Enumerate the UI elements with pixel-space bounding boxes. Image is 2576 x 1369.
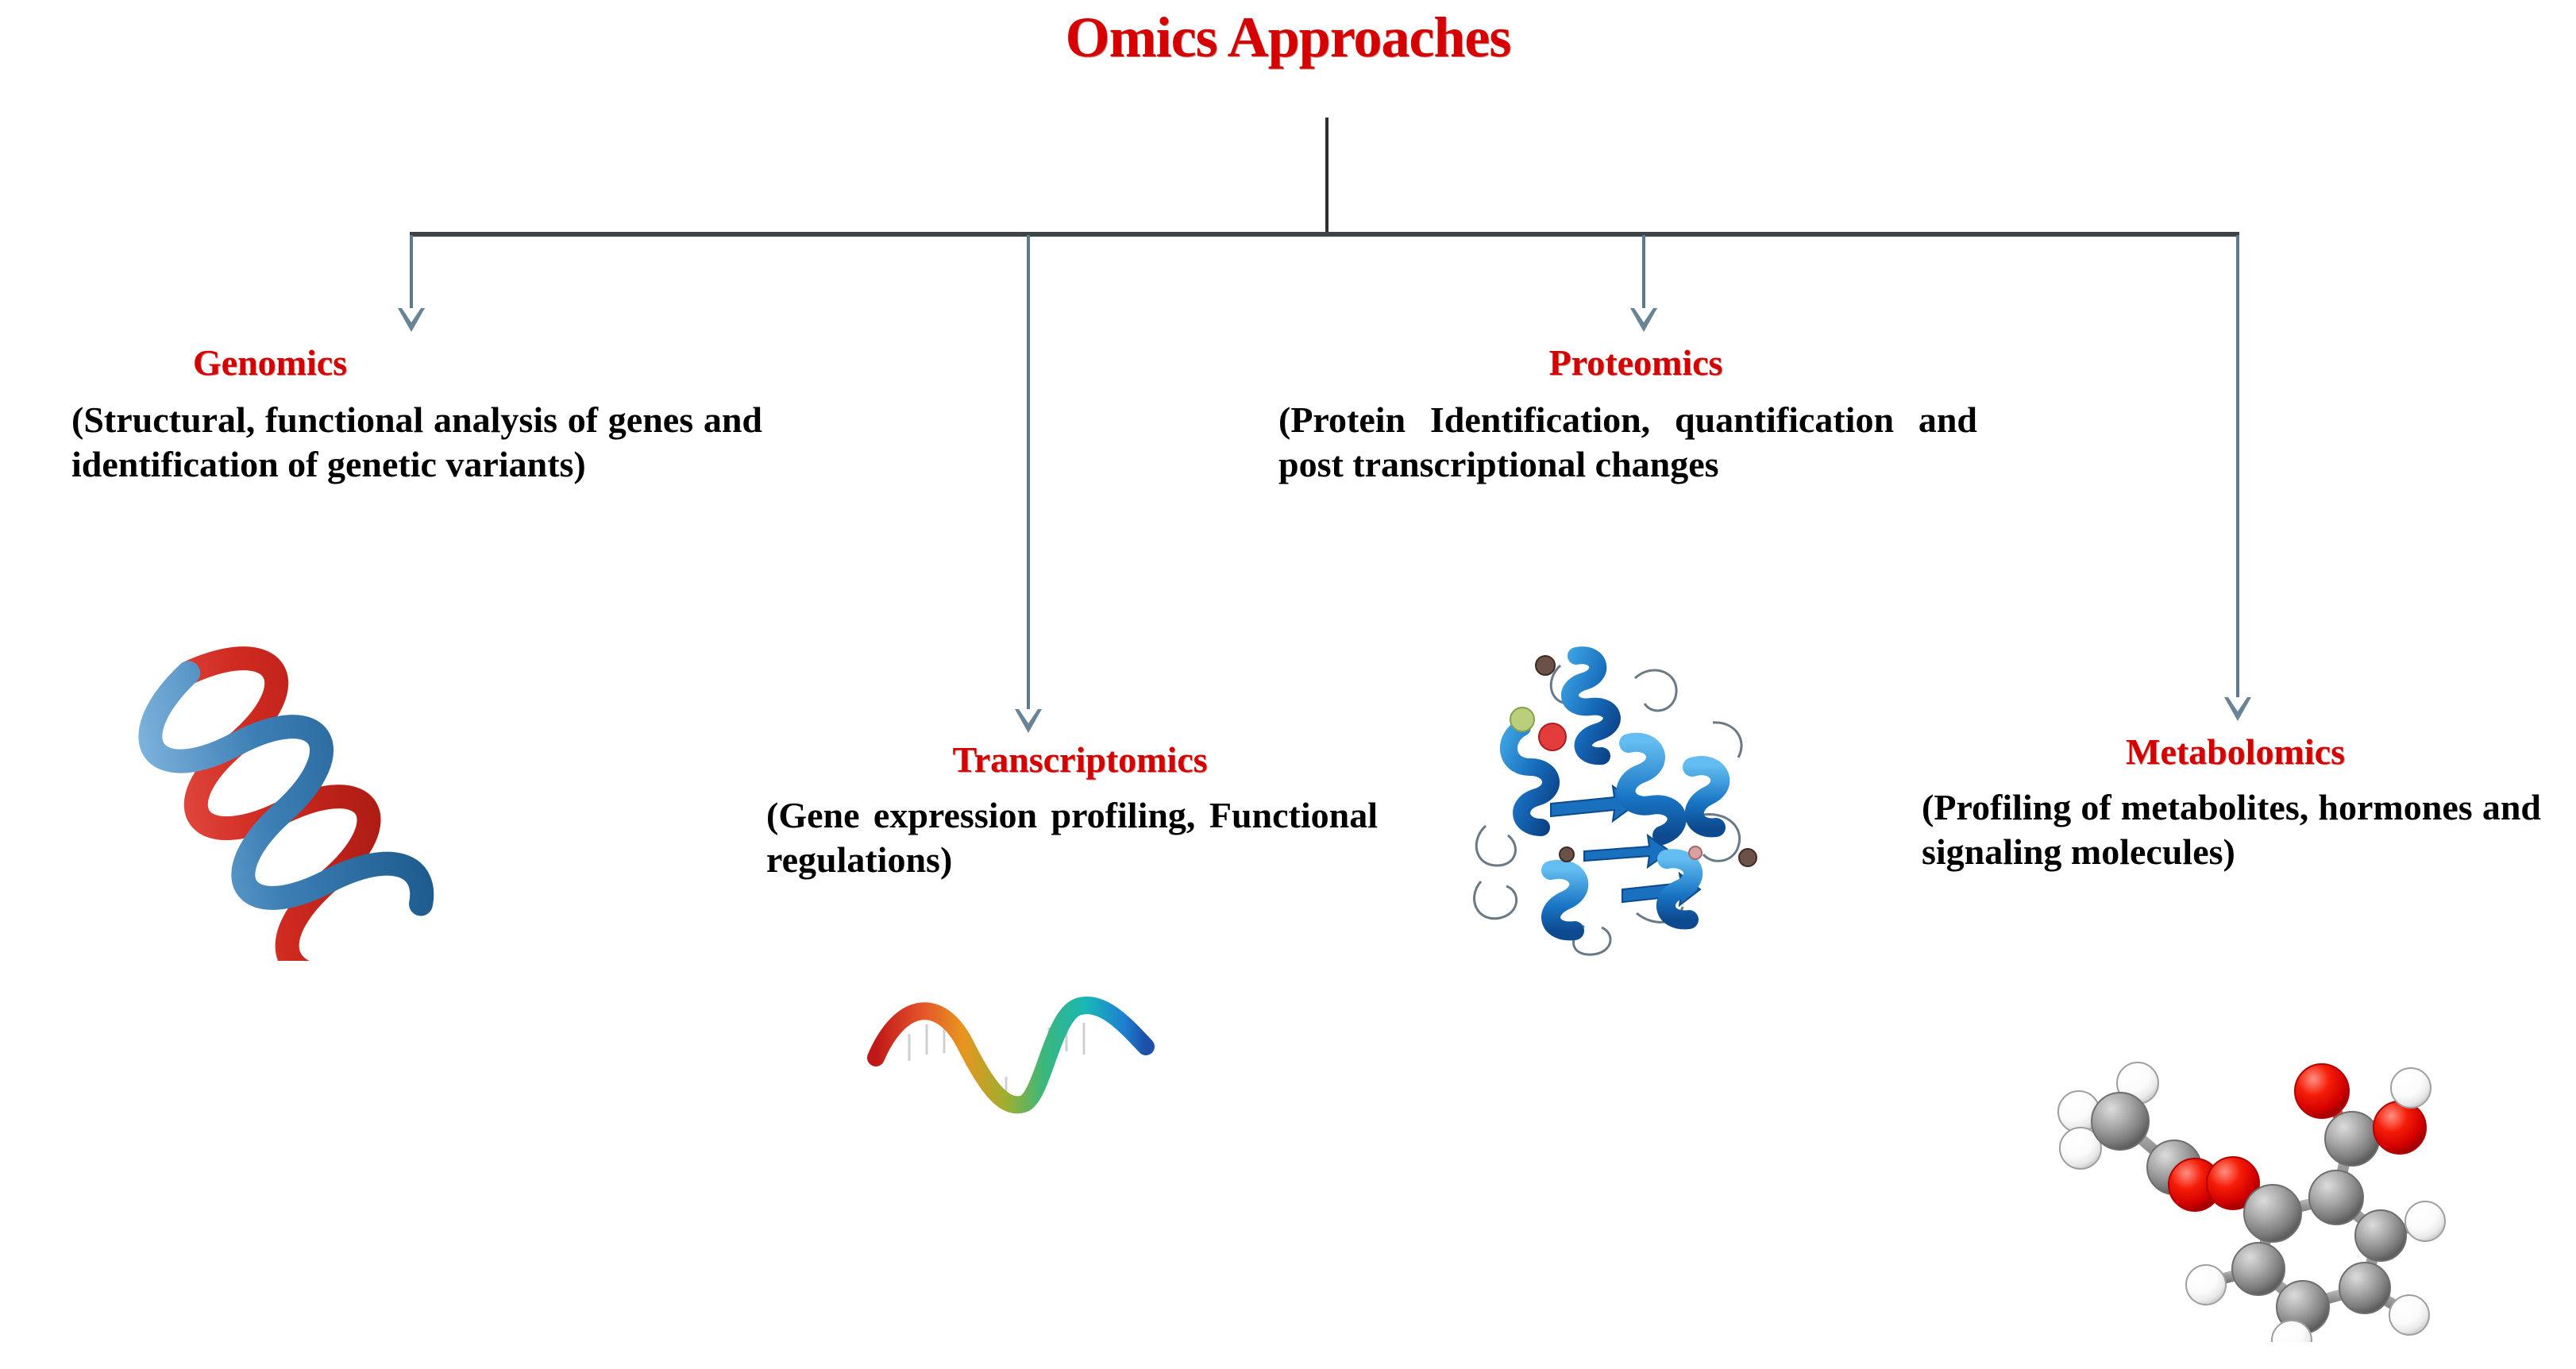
arrow-notch-metabolomics: [2228, 697, 2247, 711]
branch-line-genomics: [410, 235, 413, 316]
branch-line-proteomics: [1642, 235, 1645, 316]
arrow-notch-genomics: [402, 308, 421, 322]
metabolite-molecule-ball-and-stick-image: [2033, 1008, 2446, 1342]
arrow-notch-proteomics: [1634, 308, 1653, 322]
section-heading-genomics: Genomics: [71, 341, 469, 384]
section-body-transcriptomics: (Gene expression profiling, Functional r…: [766, 793, 1378, 882]
section-proteomics: Proteomics (Protein Identification, quan…: [1278, 341, 1993, 487]
branch-line-transcriptomics: [1027, 235, 1030, 717]
rna-strand-wave-image: [854, 985, 1163, 1143]
section-genomics: Genomics (Structural, functional analysi…: [71, 341, 770, 487]
section-heading-metabolomics: Metabolomics: [1922, 731, 2549, 773]
dna-double-helix-image: [107, 619, 504, 961]
section-transcriptomics: Transcriptomics (Gene expression profili…: [766, 738, 1394, 882]
section-metabolomics: Metabolomics (Profiling of metabolites, …: [1922, 731, 2549, 874]
branch-line-metabolomics: [2236, 235, 2239, 705]
section-body-metabolomics: (Profiling of metabolites, hormones and …: [1922, 785, 2541, 874]
root-stem-line: [1325, 118, 1328, 235]
page-title: Omics Approaches: [0, 5, 2576, 71]
section-heading-transcriptomics: Transcriptomics: [766, 738, 1394, 781]
arrow-notch-transcriptomics: [1019, 709, 1038, 723]
protein-ribbon-structure-image: [1465, 627, 1783, 961]
diagram-canvas: Omics Approaches Genomics (Structural, f…: [0, 0, 2576, 1369]
section-body-proteomics: (Protein Identification, quantification …: [1278, 398, 1977, 487]
section-body-genomics: (Structural, functional analysis of gene…: [71, 398, 762, 487]
section-heading-proteomics: Proteomics: [1278, 341, 1993, 384]
horizontal-branch-bar: [410, 232, 2239, 237]
